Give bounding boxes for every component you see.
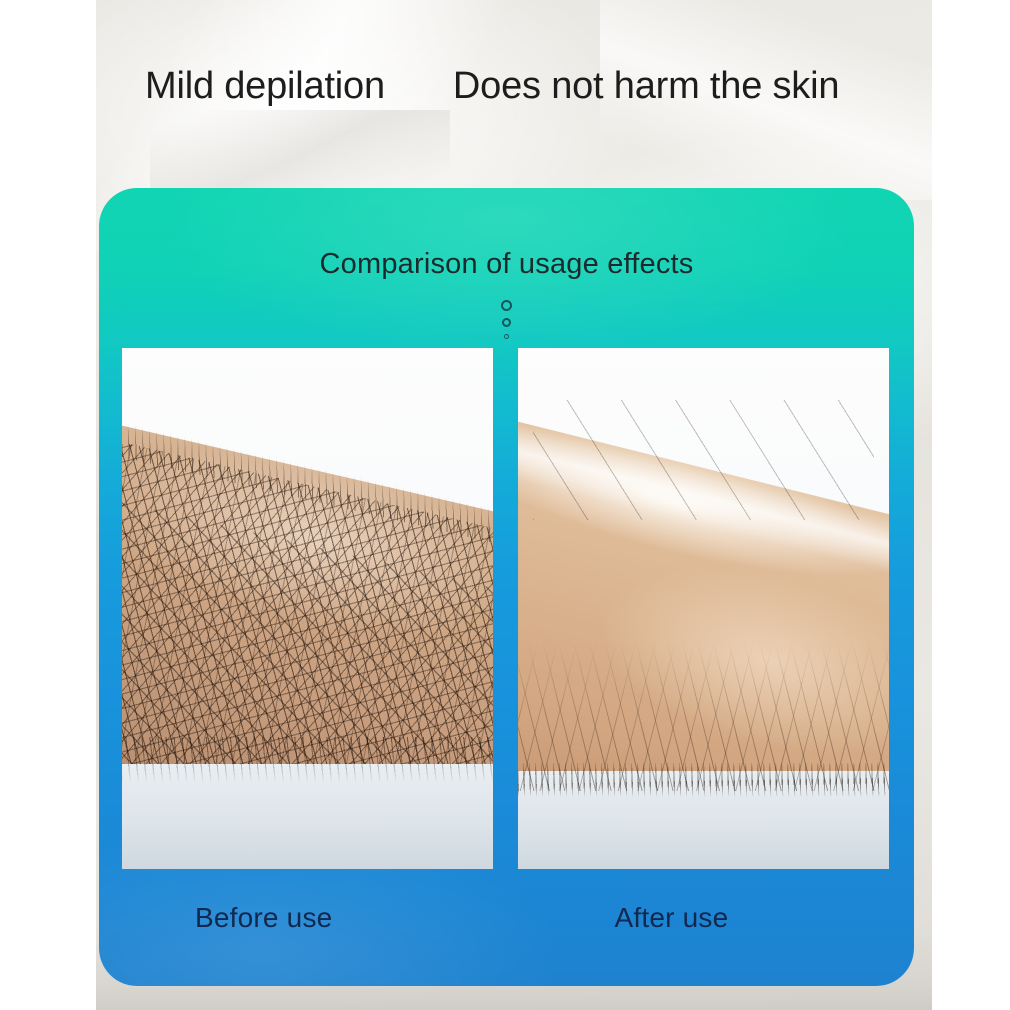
- right-white-margin: [932, 0, 1010, 1010]
- headline-row: Mild depilation Does not harm the skin: [95, 60, 933, 112]
- circle-outline-icon-large: [501, 300, 512, 311]
- after-photo-hair-bottom-fringe: [518, 763, 889, 797]
- after-photo-stray-hairs: [533, 400, 874, 520]
- promo-image-root: Mild depilation Does not harm the skin C…: [0, 0, 1010, 1010]
- headline-mild-depilation: Mild depilation: [145, 67, 385, 105]
- left-white-margin: [0, 0, 96, 1010]
- comparison-card: Comparison of usage effects: [99, 188, 914, 986]
- before-photo: [122, 348, 493, 869]
- caption-before-use: Before use: [122, 888, 479, 948]
- before-photo-hair-bottom-fringe: [122, 737, 493, 783]
- fabric-fold-shadow-mid: [150, 110, 450, 200]
- circle-outline-icon-medium: [502, 318, 511, 327]
- decorative-dot-stack: [99, 300, 914, 339]
- after-photo: [518, 348, 889, 869]
- caption-after-use: After use: [504, 888, 899, 948]
- headline-does-not-harm-skin: Does not harm the skin: [453, 67, 839, 105]
- caption-row: Before use After use: [122, 888, 898, 948]
- card-title: Comparison of usage effects: [99, 250, 914, 279]
- circle-outline-icon-small: [504, 334, 509, 339]
- photo-panel-row: [122, 348, 898, 869]
